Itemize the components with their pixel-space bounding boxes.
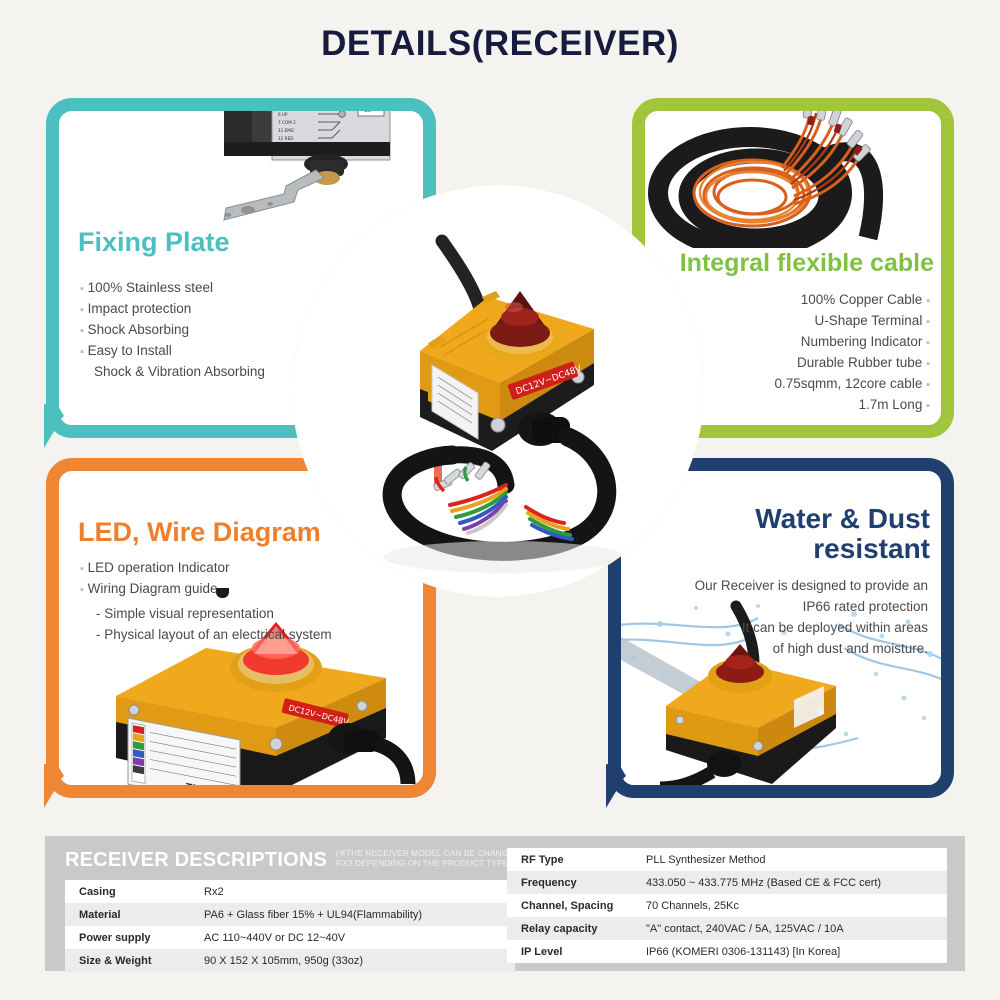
page-title: DETAILS(RECEIVER) — [0, 24, 1000, 64]
list-item: 0.75sqmm, 12core cable ▪ — [775, 374, 931, 395]
card-title-line2: resistant — [755, 534, 930, 564]
bullet-text: Durable Rubber tube — [797, 355, 922, 370]
list-item: ▪ Shock Absorbing — [80, 320, 265, 341]
spec-value: PLL Synthesizer Method — [632, 848, 947, 871]
card-title-fixing-plate: Fixing Plate — [78, 228, 230, 256]
spec-table-left: Casing Rx2 Material PA6 + Glass fiber 15… — [65, 880, 515, 972]
list-item: 100% Copper Cable ▪ — [775, 290, 931, 311]
spec-value: "A" contact, 240VAC / 5A, 125VAC / 10A — [632, 917, 947, 940]
body-line: Our Receiver is designed to provide an — [695, 576, 928, 597]
bullet-marker-icon: ▪ — [926, 316, 930, 328]
list-item: ▪ LED operation Indicator — [80, 558, 332, 579]
bullet-marker-icon: ▪ — [926, 337, 930, 349]
bullet-text: 100% Copper Cable — [801, 292, 923, 307]
table-row: Casing Rx2 — [65, 880, 515, 903]
card-title-led-wire-diagram: LED, Wire Diagram — [78, 518, 321, 546]
table-row: Frequency 433.050 ~ 433.775 MHz (Based C… — [507, 871, 947, 894]
spec-key: RF Type — [507, 848, 632, 871]
table-row: IP Level IP66 (KOMERI 0306-131143) [In K… — [507, 940, 947, 963]
spec-heading: RECEIVER DESCRIPTIONS — [65, 849, 327, 872]
bullet-text: 1.7m Long — [859, 397, 923, 412]
bullet-marker-icon: ▪ — [926, 400, 930, 412]
list-item-sub: - Simple visual representation — [80, 600, 332, 625]
spec-key: Size & Weight — [65, 949, 190, 972]
list-item: ▪ Easy to Install — [80, 341, 265, 362]
spec-key: Casing — [65, 880, 190, 903]
bullet-subtext: Shock & Vibration Absorbing — [94, 364, 265, 379]
led-bullets: ▪ LED operation Indicator ▪ Wiring Diagr… — [80, 558, 332, 646]
bullet-marker-icon: ▪ — [80, 346, 84, 358]
bullet-marker-icon: ▪ — [80, 283, 84, 295]
table-row: Relay capacity "A" contact, 240VAC / 5A,… — [507, 917, 947, 940]
receiver-descriptions-panel: RECEIVER DESCRIPTIONS (※THE RECEIVER MOD… — [45, 836, 965, 971]
list-item: Durable Rubber tube ▪ — [775, 353, 931, 374]
card-title-water-dust-resistant: Water & Dust resistant — [755, 504, 930, 564]
list-item: U-Shape Terminal ▪ — [775, 311, 931, 332]
table-row: Power supply AC 110~440V or DC 12~40V — [65, 926, 515, 949]
spec-key: Channel, Spacing — [507, 894, 632, 917]
list-item: ▪ 100% Stainless steel — [80, 278, 265, 299]
spec-key: IP Level — [507, 940, 632, 963]
bullet-marker-icon: ▪ — [80, 563, 84, 575]
list-item-sub: - Physical layout of an electrical syste… — [80, 625, 332, 646]
bullet-text: Easy to Install — [88, 343, 172, 358]
spec-key: Material — [65, 903, 190, 926]
bullet-text: LED operation Indicator — [88, 560, 230, 575]
water-dust-body: Our Receiver is designed to provide an I… — [695, 576, 928, 660]
spec-value: PA6 + Glass fiber 15% + UL94(Flammabilit… — [190, 903, 515, 926]
table-row: Material PA6 + Glass fiber 15% + UL94(Fl… — [65, 903, 515, 926]
table-row: Channel, Spacing 70 Channels, 25Kc — [507, 894, 947, 917]
cable-bullets: 100% Copper Cable ▪ U-Shape Terminal ▪ N… — [775, 290, 931, 416]
bullet-marker-icon: ▪ — [80, 325, 84, 337]
list-item-sub: Shock & Vibration Absorbing — [80, 362, 265, 383]
bullet-text: Impact protection — [88, 301, 192, 316]
bullet-marker-icon: ▪ — [926, 379, 930, 391]
bullet-text: U-Shape Terminal — [815, 313, 923, 328]
spec-table-right: RF Type PLL Synthesizer Method Frequency… — [507, 848, 947, 963]
spec-key: Relay capacity — [507, 917, 632, 940]
spec-value: 90 X 152 X 105mm, 950g (33oz) — [190, 949, 515, 972]
bullet-text: 100% Stainless steel — [88, 280, 213, 295]
spec-value: 70 Channels, 25Kc — [632, 894, 947, 917]
body-line: IP66 rated protection — [695, 597, 928, 618]
fixing-plate-bullets: ▪ 100% Stainless steel ▪ Impact protecti… — [80, 278, 265, 383]
bullet-marker-icon: ▪ — [926, 295, 930, 307]
bullet-subtext: - Simple visual representation — [96, 606, 274, 621]
spec-value: Rx2 — [190, 880, 515, 903]
bullet-text: Numbering Indicator — [801, 334, 923, 349]
table-row: RF Type PLL Synthesizer Method — [507, 848, 947, 871]
list-item: 1.7m Long ▪ — [775, 395, 931, 416]
bullet-marker-icon: ▪ — [80, 304, 84, 316]
bullet-marker-icon: ▪ — [80, 584, 84, 596]
card-title-line1: Water & Dust — [755, 504, 930, 534]
list-item: ▪ Wiring Diagram guide — [80, 579, 332, 600]
spec-key: Frequency — [507, 871, 632, 894]
bullet-text: Wiring Diagram guide — [88, 581, 218, 596]
spec-header: RECEIVER DESCRIPTIONS (※THE RECEIVER MOD… — [65, 848, 551, 872]
spec-value: AC 110~440V or DC 12~40V — [190, 926, 515, 949]
list-item: ▪ Impact protection — [80, 299, 265, 320]
body-line: of high dust and moisture. — [695, 639, 928, 660]
bullet-text: Shock Absorbing — [88, 322, 189, 337]
spec-key: Power supply — [65, 926, 190, 949]
bullet-text: 0.75sqmm, 12core cable — [775, 376, 923, 391]
spec-value: 433.050 ~ 433.775 MHz (Based CE & FCC ce… — [632, 871, 947, 894]
card-title-integral-flexible-cable: Integral flexible cable — [680, 250, 934, 276]
center-product-image: DC12V~DC48V — [292, 185, 704, 597]
body-line: It can be deployed within areas — [695, 618, 928, 639]
spec-value: IP66 (KOMERI 0306-131143) [In Korea] — [632, 940, 947, 963]
table-row: Size & Weight 90 X 152 X 105mm, 950g (33… — [65, 949, 515, 972]
bullet-subtext: - Physical layout of an electrical syste… — [96, 627, 332, 642]
bullet-marker-icon: ▪ — [926, 358, 930, 370]
list-item: Numbering Indicator ▪ — [775, 332, 931, 353]
